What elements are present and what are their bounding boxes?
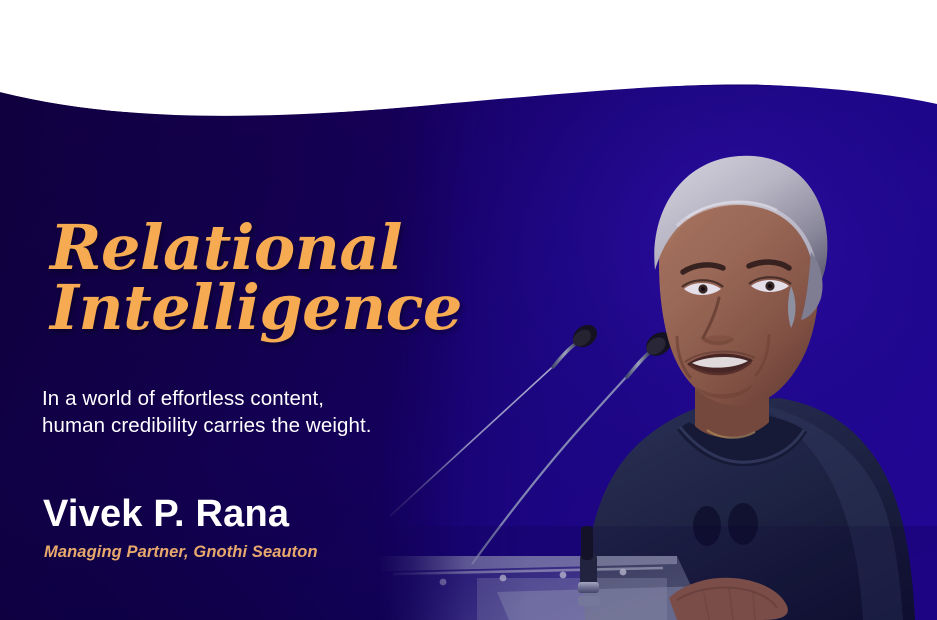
speaker-photo <box>377 86 937 620</box>
header-bar <box>0 0 937 112</box>
presentation-slide: Relational Intelligence In a world of ef… <box>0 0 937 620</box>
